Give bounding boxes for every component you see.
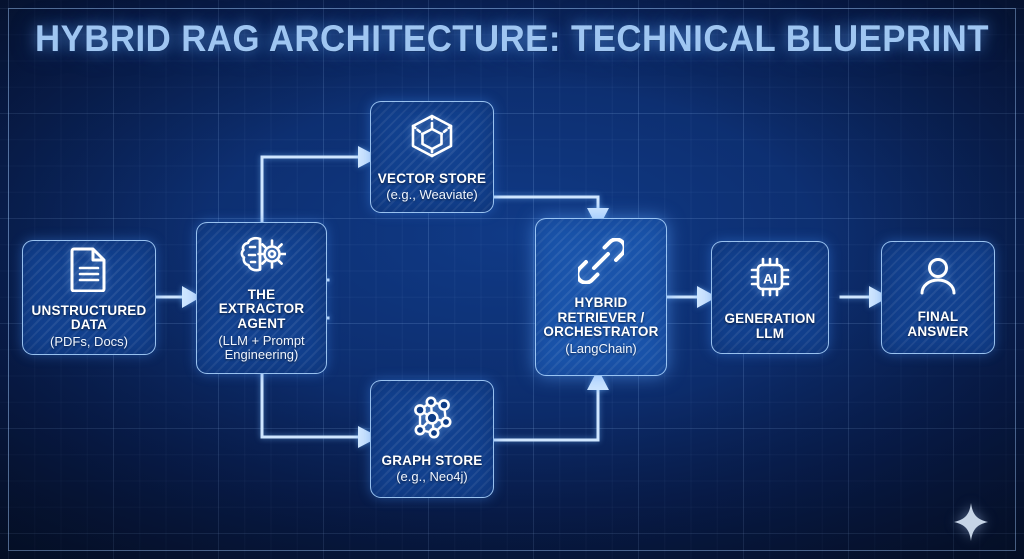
node-unstructured-data[interactable]: UNSTRUCTURED DATA (PDFs, Docs) <box>22 240 156 355</box>
node-label: THE EXTRACTOR AGENT <box>219 288 305 332</box>
node-sublabel: (e.g., Neo4j) <box>396 470 468 484</box>
node-hybrid-retriever[interactable]: HYBRID RETRIEVER / ORCHESTRATOR (LangCha… <box>535 218 667 376</box>
node-label: HYBRID RETRIEVER / ORCHESTRATOR <box>543 296 658 340</box>
node-final-answer[interactable]: FINAL ANSWER <box>881 241 995 354</box>
edge-vector-to-retriever <box>494 197 598 210</box>
page-title: HYBRID RAG ARCHITECTURE: TECHNICAL BLUEP… <box>31 18 994 60</box>
node-label: UNSTRUCTURED DATA <box>32 304 147 333</box>
svg-text:AI: AI <box>763 270 777 286</box>
node-sublabel: (LLM + Prompt Engineering) <box>218 334 304 363</box>
node-vector-store[interactable]: VECTOR STORE (e.g., Weaviate) <box>370 101 494 213</box>
cube-icon <box>408 112 456 165</box>
node-generation-llm[interactable]: AI GENERATION LLM <box>711 241 829 354</box>
node-graph-store[interactable]: GRAPH STORE (e.g., Neo4j) <box>370 380 494 498</box>
node-sublabel: (PDFs, Docs) <box>50 335 128 349</box>
edge-graph-to-retriever <box>494 388 598 440</box>
brain-gear-icon <box>238 234 286 281</box>
node-sublabel: (LangChain) <box>565 342 637 356</box>
node-label: GRAPH STORE <box>382 454 483 469</box>
node-label: GENERATION LLM <box>724 312 815 341</box>
node-label: FINAL ANSWER <box>907 310 968 339</box>
node-label: VECTOR STORE <box>378 172 486 187</box>
document-icon <box>69 246 109 297</box>
sparkle-icon <box>954 503 988 541</box>
graph-network-icon <box>406 394 458 447</box>
chain-link-icon <box>578 238 624 289</box>
ai-chip-icon: AI <box>747 254 793 305</box>
node-sublabel: (e.g., Weaviate) <box>386 188 478 202</box>
user-icon <box>917 256 959 303</box>
node-extractor-agent[interactable]: THE EXTRACTOR AGENT (LLM + Prompt Engine… <box>196 222 327 374</box>
blueprint-frame-border <box>8 8 1016 551</box>
blueprint-canvas: HYBRID RAG ARCHITECTURE: TECHNICAL BLUEP… <box>0 0 1024 559</box>
